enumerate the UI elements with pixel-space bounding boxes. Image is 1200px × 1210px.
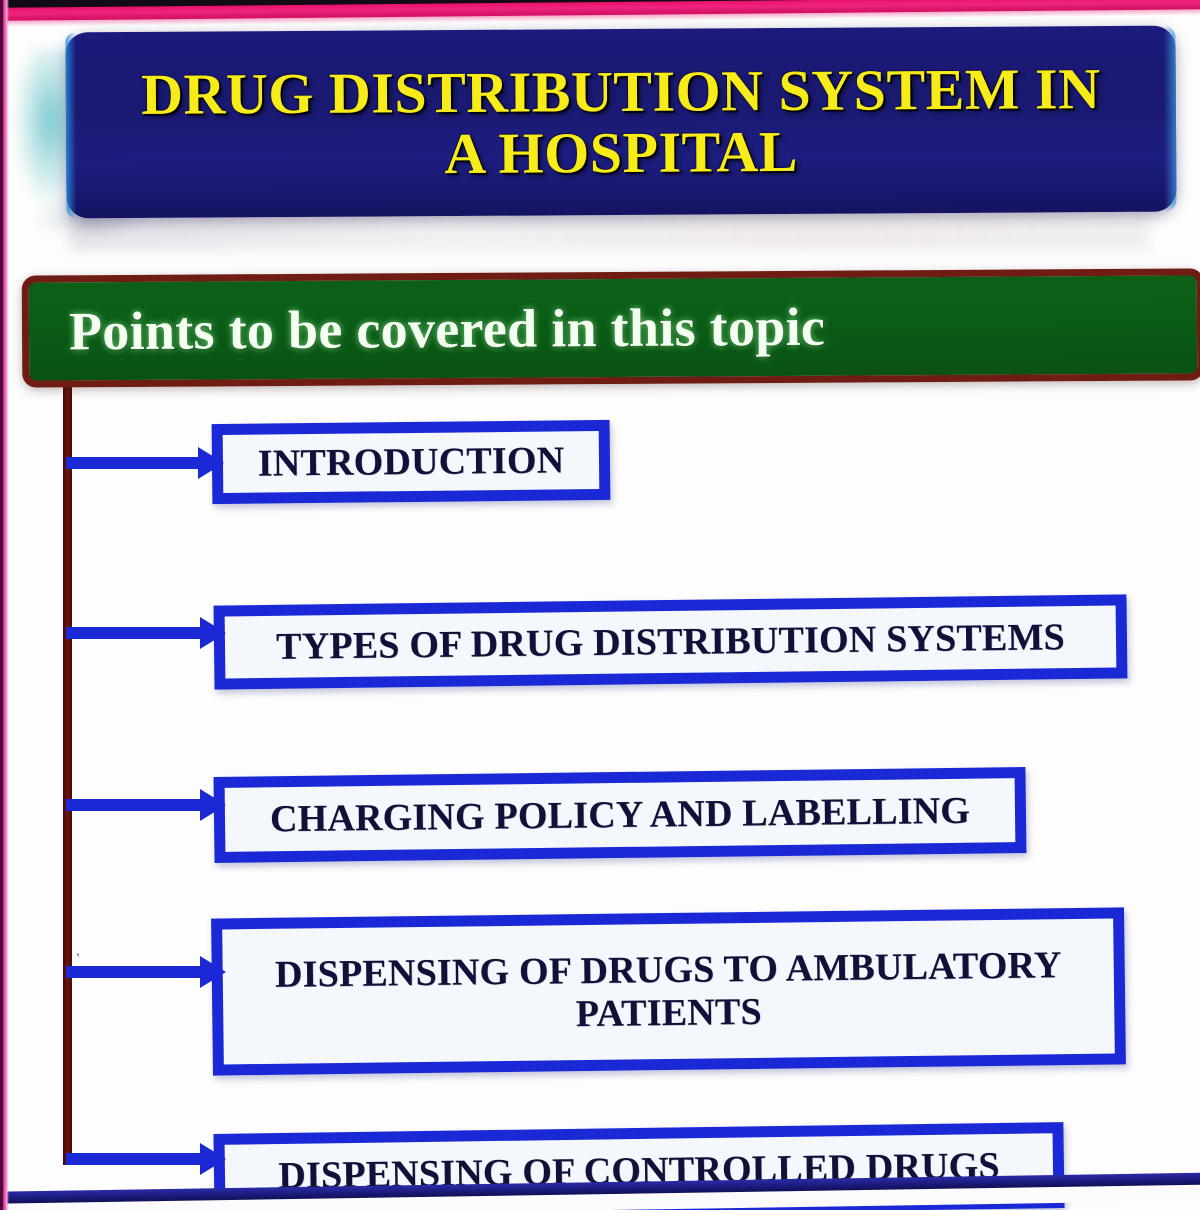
- arrow-head-icon: [200, 617, 226, 649]
- connector-arrow-ambulatory: [66, 965, 226, 979]
- connector-arrow-controlled: [66, 1152, 226, 1166]
- topic-label: CHARGING POLICY AND LABELLING: [260, 789, 981, 840]
- connector-arrow-introduction: [66, 456, 224, 470]
- connector-arrow-charging: [66, 798, 226, 812]
- arrow-head-icon: [200, 956, 226, 988]
- arrow-shaft: [66, 1153, 201, 1165]
- topic-box-introduction: INTRODUCTION: [212, 420, 611, 504]
- connector-arrow-types: [66, 626, 226, 640]
- topic-label: TYPES OF DRUG DISTRIBUTION SYSTEMS: [266, 616, 1075, 668]
- arrow-shaft: [66, 627, 201, 639]
- topic-label: DISPENSING OF DRUGS TO AMBULATORY PATIEN…: [265, 944, 1073, 1039]
- topic-label: INTRODUCTION: [248, 439, 575, 485]
- arrow-shaft: [66, 966, 201, 978]
- slide-title: DRUG DISTRIBUTION SYSTEM IN A HOSPITAL: [115, 57, 1127, 186]
- slide-canvas: DRUG DISTRIBUTION SYSTEM IN A HOSPITAL P…: [0, 0, 1200, 1210]
- arrow-head-icon: [198, 447, 224, 479]
- slide-title-banner: DRUG DISTRIBUTION SYSTEM IN A HOSPITAL: [65, 26, 1176, 219]
- arrow-head-icon: [200, 789, 226, 821]
- arrow-shaft: [66, 457, 199, 469]
- stray-pen-mark: ‛: [76, 950, 90, 960]
- topic-box-charging-policy-and-labelling: CHARGING POLICY AND LABELLING: [214, 767, 1027, 863]
- arrow-shaft: [66, 799, 201, 811]
- topic-box-types-of-drug-distribution-systems: TYPES OF DRUG DISTRIBUTION SYSTEMS: [214, 594, 1128, 689]
- vertical-connector-line: [63, 380, 72, 1165]
- page-left-dark-edge: [0, 0, 3, 1210]
- topic-box-dispensing-to-ambulatory-patients: DISPENSING OF DRUGS TO AMBULATORY PATIEN…: [211, 907, 1126, 1075]
- arrow-head-icon: [200, 1143, 226, 1175]
- points-to-be-covered-banner: Points to be covered in this topic: [22, 268, 1200, 387]
- section-header-label: Points to be covered in this topic: [29, 296, 826, 363]
